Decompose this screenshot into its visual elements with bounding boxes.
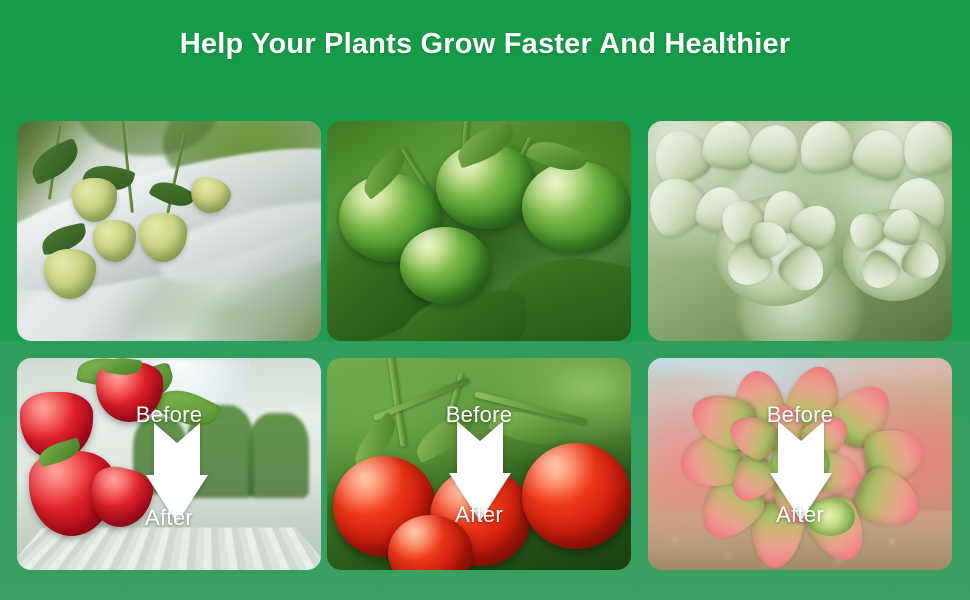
- down-arrow-icon: [770, 421, 832, 521]
- before-photo-tomato: [327, 121, 631, 341]
- before-photo-succulent: [648, 121, 952, 341]
- page-title: Help Your Plants Grow Faster And Healthi…: [180, 28, 791, 61]
- comparison-column-tomato: Before After: [327, 121, 631, 570]
- unripe-tomatoes-image: [327, 121, 631, 341]
- unripe-strawberries-image: [17, 121, 321, 341]
- banner-header: Help Your Plants Grow Faster And Healthi…: [0, 0, 970, 88]
- promo-banner: Help Your Plants Grow Faster And Healthi…: [0, 0, 970, 600]
- comparison-column-strawberry: Before After: [17, 121, 321, 570]
- down-arrow-icon: [146, 423, 208, 523]
- pale-succulents-image: [648, 121, 952, 341]
- before-photo-strawberry: [17, 121, 321, 341]
- before-after-grid: Before After: [17, 121, 953, 570]
- comparison-column-succulent: Before After: [648, 121, 952, 570]
- down-arrow-icon: [449, 421, 511, 521]
